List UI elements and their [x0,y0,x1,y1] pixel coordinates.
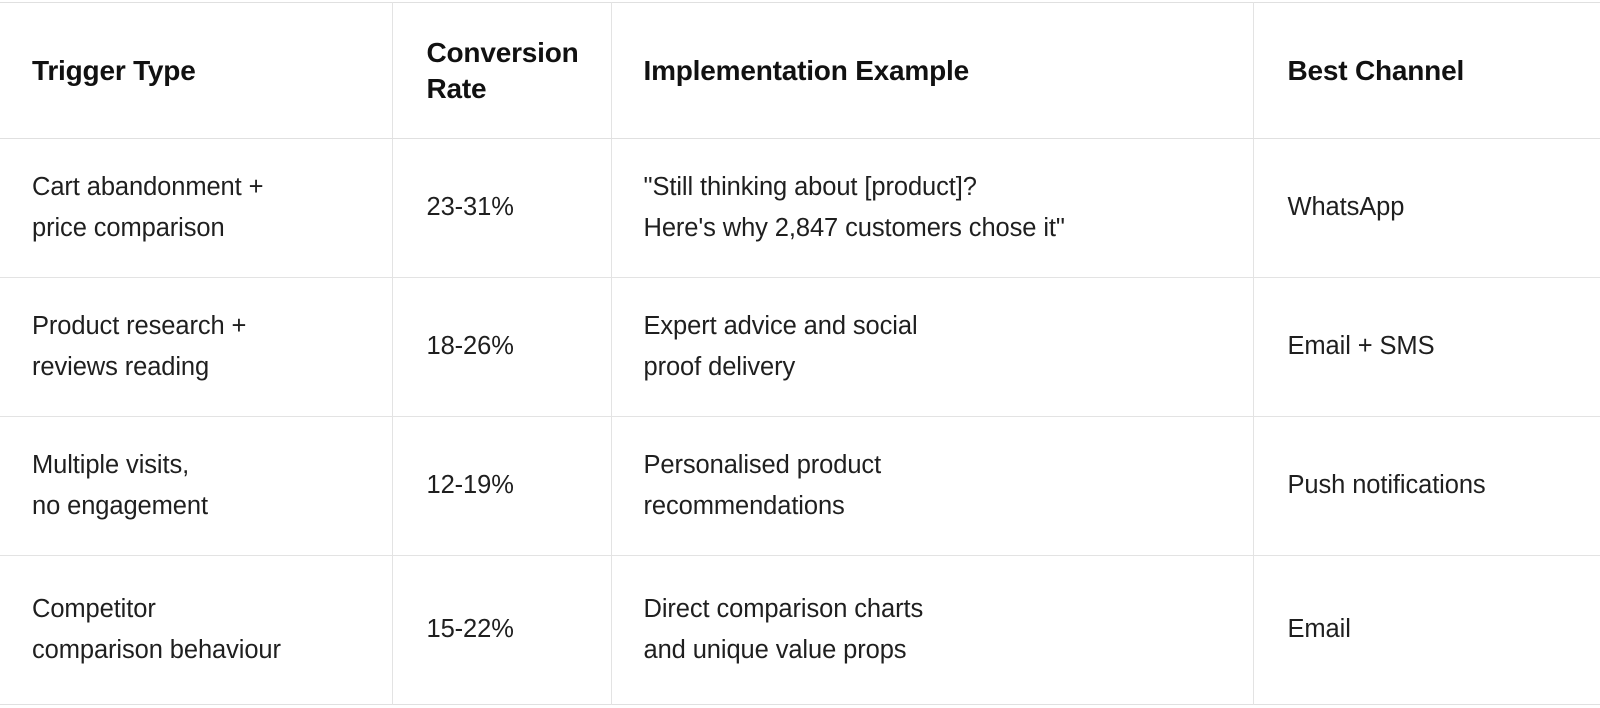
cell-conversion-rate: 23-31% [392,139,611,278]
table-body: Cart abandonment + price comparison 23-3… [0,139,1600,705]
cell-conversion-rate: 18-26% [392,278,611,417]
table-row: Cart abandonment + price comparison 23-3… [0,139,1600,278]
header-row: Trigger Type Conversion Rate Implementat… [0,3,1600,139]
cell-implementation-example: "Still thinking about [product]? Here's … [611,139,1253,278]
column-header-trigger-type: Trigger Type [0,3,392,139]
table-header: Trigger Type Conversion Rate Implementat… [0,3,1600,139]
cell-trigger-type: Product research + reviews reading [0,278,392,417]
cell-best-channel: Email + SMS [1253,278,1600,417]
cell-trigger-type: Cart abandonment + price comparison [0,139,392,278]
cell-trigger-type: Competitor comparison behaviour [0,556,392,705]
column-header-best-channel: Best Channel [1253,3,1600,139]
cell-implementation-example: Personalised product recommendations [611,417,1253,556]
table-row: Competitor comparison behaviour 15-22% D… [0,556,1600,705]
cell-best-channel: Email [1253,556,1600,705]
trigger-table-container: Trigger Type Conversion Rate Implementat… [0,0,1600,708]
cell-best-channel: WhatsApp [1253,139,1600,278]
column-header-implementation-example: Implementation Example [611,3,1253,139]
table-row: Product research + reviews reading 18-26… [0,278,1600,417]
cell-implementation-example: Expert advice and social proof delivery [611,278,1253,417]
trigger-conversion-table: Trigger Type Conversion Rate Implementat… [0,2,1600,705]
cell-implementation-example: Direct comparison charts and unique valu… [611,556,1253,705]
cell-conversion-rate: 15-22% [392,556,611,705]
cell-trigger-type: Multiple visits, no engagement [0,417,392,556]
table-row: Multiple visits, no engagement 12-19% Pe… [0,417,1600,556]
column-header-conversion-rate: Conversion Rate [392,3,611,139]
cell-conversion-rate: 12-19% [392,417,611,556]
cell-best-channel: Push notifications [1253,417,1600,556]
